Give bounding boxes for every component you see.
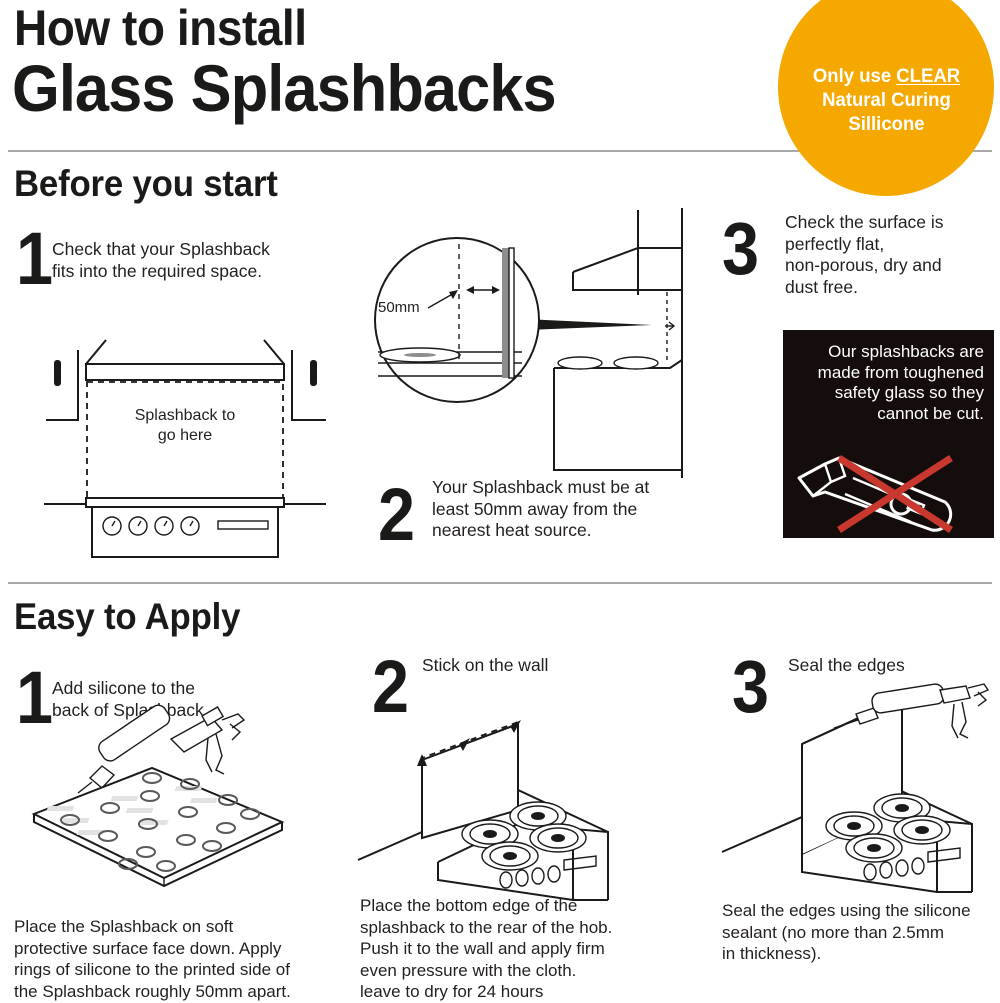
page-title-line1: How to install xyxy=(14,2,307,54)
caption-eta-3: Seal the edges using the silicone sealan… xyxy=(722,900,992,965)
figure-splashback-space: Splashback to go here xyxy=(30,320,340,535)
step-text-bys-3: Check the surface is perfectly flat, non… xyxy=(785,212,1000,298)
figure-stick-on-wall xyxy=(358,680,658,880)
instruction-sheet: How to install Glass Splashbacks Only us… xyxy=(0,0,1000,1000)
step-text-eta-2: Stick on the wall xyxy=(422,655,672,677)
figure-label-splashback-here-line2: go here xyxy=(158,427,212,444)
figure-seal-the-edges xyxy=(722,672,1000,872)
figure-label-50mm: 50mm xyxy=(378,299,420,316)
caption-eta-2: Place the bottom edge of the splashback … xyxy=(360,895,680,1003)
figure-apply-silicone-rings xyxy=(26,718,326,898)
section-heading-easy-to-apply: Easy to Apply xyxy=(14,596,240,638)
figure-label-splashback-here-line1: Splashback to xyxy=(135,407,236,424)
badge-line1-prefix: Only use xyxy=(812,65,895,87)
clear-silicone-badge: Only use CLEAR Natural Curing Sillicone xyxy=(778,0,994,196)
badge-line3: Sillicone xyxy=(848,113,924,135)
step-number-bys-1: 1 xyxy=(16,222,53,296)
step-number-bys-2: 2 xyxy=(378,478,415,552)
warning-box-text: Our splashbacks are made from toughened … xyxy=(793,342,984,424)
caption-eta-1: Place the Splashback on soft protective … xyxy=(14,916,344,1002)
step-text-bys-1: Check that your Splashback fits into the… xyxy=(52,239,312,282)
badge-line1-emphasis: CLEAR xyxy=(896,65,960,87)
badge-line2: Natural Curing xyxy=(822,89,951,111)
section-heading-before-you-start: Before you start xyxy=(14,163,278,205)
figure-50mm-clearance: 50mm xyxy=(352,200,692,490)
badge-text: Only use CLEAR Natural Curing Sillicone xyxy=(812,38,959,136)
warning-box-no-cutting: Our splashbacks are made from toughened … xyxy=(783,330,994,538)
step-number-bys-3: 3 xyxy=(722,212,759,286)
crossed-out-utility-knife-icon xyxy=(795,452,983,534)
divider-middle xyxy=(8,582,992,584)
step-text-bys-2: Your Splashback must be at least 50mm aw… xyxy=(432,477,692,542)
page-title-line2: Glass Splashbacks xyxy=(12,52,556,124)
